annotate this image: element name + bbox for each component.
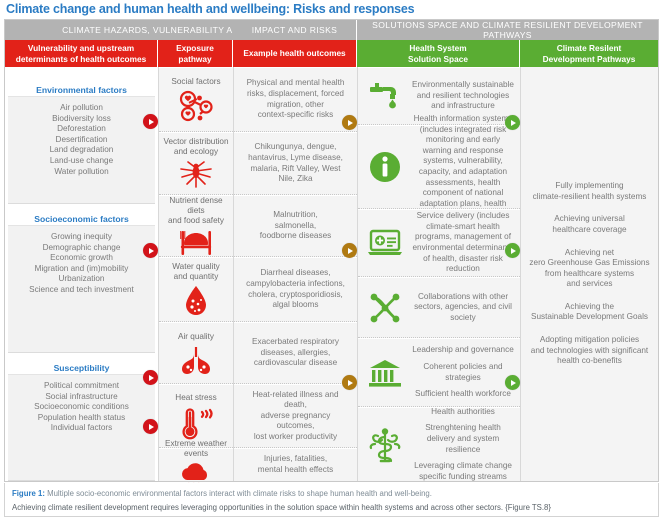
solution-line-health-authorities-3: Leveraging climate change specific fundi… (412, 461, 514, 482)
solution-line-leadership-3: Sufficient health workforce (412, 389, 514, 400)
outcome-text-6: Heat-related illness and death, adverse … (234, 390, 357, 443)
exposure-cell-air-quality: Air quality (159, 322, 233, 384)
solution-text-technologies: Environmentally sustainable and resilien… (412, 80, 520, 112)
infographic-root: Climate change and human health and well… (0, 0, 663, 520)
solution-text-leadership: Leadership and governance Coherent polic… (412, 345, 520, 399)
flow-arrow-outcomes-to-solutions-2 (342, 243, 357, 258)
flow-arrow-solutions-to-pathways-3 (505, 375, 520, 390)
column-solution-space: Environmentally sustainable and resilien… (358, 67, 520, 481)
header-health-system-solution-space: Health System Solution Space (357, 40, 520, 67)
susceptibility-list: Political commitment Social infrastructu… (8, 375, 155, 442)
exposure-label-air-quality: Air quality (175, 332, 217, 342)
header-outcomes-line1: Example health outcomes (243, 48, 345, 59)
outcome-text-4: Diarrheal diseases, campylobacteria infe… (239, 268, 352, 310)
header-exposure-line1: Exposure (176, 43, 214, 54)
caption-line-1: Figure 1: Multiple socio-economic enviro… (12, 488, 651, 499)
socioeconomic-factors-list: Growing inequity Demographic change Econ… (8, 226, 155, 304)
water-tap-icon (358, 81, 412, 111)
outcome-text-5: Exacerbated respiratory diseases, allerg… (245, 337, 346, 369)
solution-line-technologies-1: Environmentally sustainable and resilien… (412, 80, 514, 112)
solution-line-service-delivery-1: Service delivery (includes climate-smart… (412, 211, 514, 275)
header-example-health-outcomes: Example health outcomes (233, 40, 357, 67)
information-icon (358, 150, 412, 184)
header-solution-line1: Health System (408, 43, 468, 54)
pathway-item-2: Achieving universal healthcare coverage (529, 214, 650, 235)
solution-line-leadership-1: Leadership and governance (412, 345, 514, 356)
water-droplet-icon (182, 285, 210, 317)
solution-text-health-authorities: Health authorities Strenghtening health … (412, 407, 520, 483)
pathway-item-5: Adopting mitigation policies and technol… (529, 335, 650, 367)
flow-arrow-outcomes-to-solutions-1 (342, 115, 357, 130)
flow-arrow-vulnerability-to-exposure-3 (143, 370, 158, 385)
page-title: Climate change and human health and well… (6, 2, 414, 16)
government-building-icon (358, 358, 412, 388)
social-network-icon (176, 90, 216, 122)
group-susceptibility: Political commitment Social infrastructu… (8, 374, 155, 481)
header-pathways-line2: Development Pathways (543, 54, 636, 65)
network-nodes-icon (358, 292, 412, 324)
exposure-cell-nutrient-dense-diets: Nutrient dense diets and food safety (159, 195, 233, 257)
flow-arrow-vulnerability-to-exposure-1 (143, 114, 158, 129)
header-exposure-pathway: Exposure pathway (158, 40, 233, 67)
outcome-text-2: Chikungunya, dengue, hantavirus, Lyme di… (241, 142, 350, 184)
outcome-cell-3: Malnutrition, salmonella, foodborne dise… (234, 195, 357, 257)
exposure-cell-social-factors: Social factors (159, 67, 233, 132)
caption-line-2: Achieving climate resilient development … (12, 502, 651, 513)
pathways-list: Fully implementing climate-resilient hea… (521, 67, 658, 481)
outcome-cell-6: Heat-related illness and death, adverse … (234, 384, 357, 448)
exposure-cell-vector-distribution: Vector distribution and ecology (159, 132, 233, 195)
solution-text-collaborations: Collaborations with other sectors, agenc… (412, 292, 520, 324)
band-impact-risks: IMPACT AND RISKS (233, 20, 357, 40)
pathway-item-4: Achieving the Sustainable Development Go… (529, 302, 650, 323)
pathway-item-3: Achieving net zero Greenhouse Gas Emissi… (529, 248, 650, 290)
outcome-cell-2: Chikungunya, dengue, hantavirus, Lyme di… (234, 132, 357, 195)
lungs-icon (176, 345, 216, 375)
solution-row-service-delivery: Service delivery (includes climate-smart… (358, 209, 520, 277)
group-socioeconomic-factors: Growing inequity Demographic change Econ… (8, 225, 155, 353)
solution-line-collaborations-1: Collaborations with other sectors, agenc… (412, 292, 514, 324)
solution-row-health-authorities: Health authorities Strenghtening health … (358, 407, 520, 481)
solution-text-service-delivery: Service delivery (includes climate-smart… (412, 211, 520, 275)
solution-row-collaborations: Collaborations with other sectors, agenc… (358, 277, 520, 338)
thermometer-icon (176, 406, 216, 440)
outcome-text-7: Injuries, fatalities, mental health effe… (251, 454, 340, 475)
solution-line-health-authorities-2: Strenghtening health delivery and system… (412, 423, 514, 455)
solution-line-health-authorities-1: Health authorities (412, 407, 514, 418)
header-solution-line2: Solution Space (408, 54, 468, 65)
header-vulnerability: Vulnerability and upstream determinants … (5, 40, 158, 67)
solution-row-information-systems: Health information systems (includes int… (358, 125, 520, 209)
header-climate-resilient-development-pathways: Climate Resilent Development Pathways (520, 40, 658, 67)
caption-line-1-text: Multiple socio-economic environmental fa… (45, 489, 432, 498)
group-environmental-factors: Air pollution Biodiversity loss Deforest… (8, 96, 155, 204)
figure-frame: CLIMATE HAZARDS, VULNERABILITY AND EXPOS… (4, 19, 659, 482)
caduceus-icon (358, 426, 412, 464)
outcome-text-1: Physical and mental health risks, displa… (240, 78, 352, 120)
outcome-cell-5: Exacerbated respiratory diseases, allerg… (234, 322, 357, 384)
column-vulnerability: Environmental factors Air pollution Biod… (5, 67, 158, 481)
flow-arrow-outcomes-to-solutions-3 (342, 375, 357, 390)
caption-figure-label: Figure 1: (12, 489, 45, 498)
solution-line-information-systems-1: Health information systems (includes int… (412, 114, 514, 220)
header-vulnerability-line2: determinants of health outcomes (16, 54, 146, 65)
solution-line-leadership-2: Coherent policies and strategies (412, 362, 514, 383)
exposure-cell-extreme-weather: Extreme weather events (159, 448, 233, 481)
header-exposure-line2: pathway (176, 54, 214, 65)
header-pathways-line1: Climate Resilent (543, 43, 636, 54)
environmental-factors-list: Air pollution Biodiversity loss Deforest… (8, 97, 155, 185)
mosquito-icon (176, 160, 216, 190)
pathway-item-1: Fully implementing climate-resilient hea… (529, 181, 650, 202)
exposure-label-vector-distribution: Vector distribution and ecology (160, 137, 231, 157)
flow-arrow-vulnerability-to-exposure-2 (143, 243, 158, 258)
exposure-label-nutrient-dense-diets: Nutrient dense diets and food safety (159, 196, 233, 226)
outcome-cell-4: Diarrheal diseases, campylobacteria infe… (234, 257, 357, 322)
figure-caption: Figure 1: Multiple socio-economic enviro… (4, 483, 659, 517)
outcome-cell-7: Injuries, fatalities, mental health effe… (234, 448, 357, 481)
column-exposure-pathway: Social factors (159, 67, 233, 481)
exposure-label-social-factors: Social factors (168, 77, 223, 87)
column-pathways: Fully implementing climate-resilient hea… (521, 67, 658, 481)
col1-gap-top (5, 67, 158, 78)
exposure-label-heat-stress: Heat stress (172, 393, 219, 403)
exposure-cell-water-quality: Water quality and quantity (159, 257, 233, 322)
flow-arrow-solutions-to-pathways-1 (505, 115, 520, 130)
flow-arrow-solutions-to-pathways-2 (505, 243, 520, 258)
plate-cutlery-icon (175, 229, 217, 257)
laptop-medical-icon (358, 228, 412, 258)
outcome-cell-1: Physical and mental health risks, displa… (234, 67, 357, 132)
outcome-text-3: Malnutrition, salmonella, foodborne dise… (253, 210, 338, 242)
band-solutions-space: SOLUTIONS SPACE AND CLIMATE RESILIENT DE… (357, 20, 658, 40)
flow-arrow-vulnerability-to-exposure-4 (143, 419, 158, 434)
column-health-outcomes: Physical and mental health risks, displa… (234, 67, 357, 481)
solution-row-leadership: Leadership and governance Coherent polic… (358, 338, 520, 407)
header-vulnerability-line1: Vulnerability and upstream (16, 43, 146, 54)
exposure-label-water-quality: Water quality and quantity (169, 262, 222, 282)
exposure-label-extreme-weather: Extreme weather events (159, 439, 233, 459)
solution-text-information-systems: Health information systems (includes int… (412, 114, 520, 220)
